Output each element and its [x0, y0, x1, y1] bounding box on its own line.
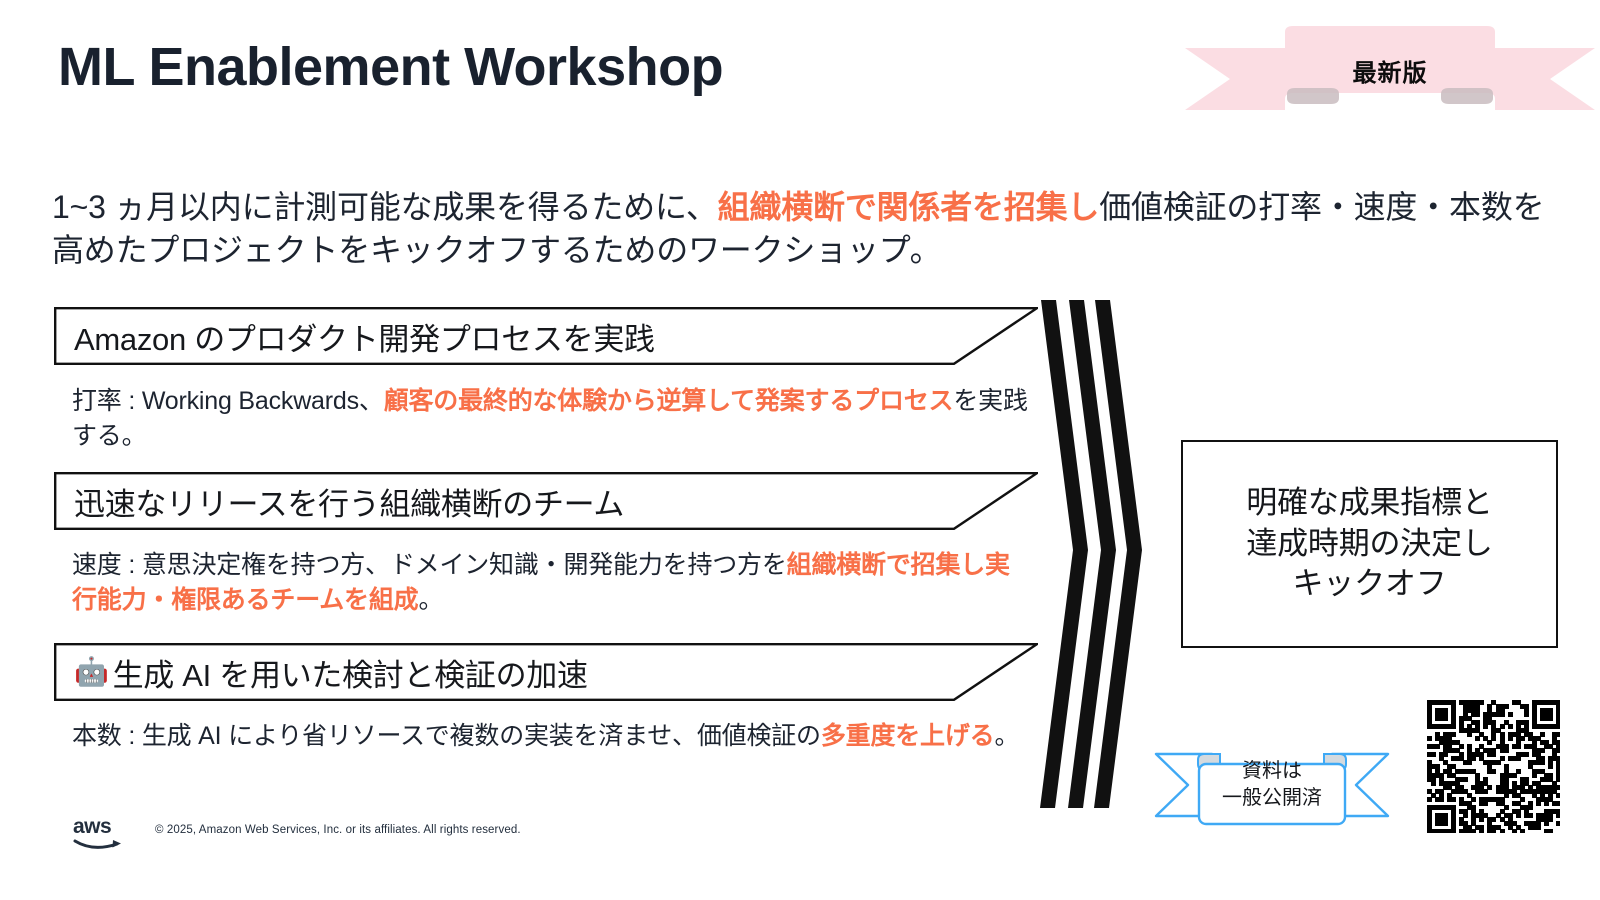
section-headline-label-2: 迅速なリリースを行う組織横断のチーム [74, 479, 624, 524]
ribbon-line-2: 一般公開済 [1174, 785, 1370, 812]
section-body-highlight-3: 多重度を上げる [821, 722, 995, 750]
robot-icon: 🤖 [74, 658, 109, 686]
qr-code-canvas[interactable] [1427, 700, 1560, 833]
section-headline-2: 迅速なリリースを行う組織横断のチーム [74, 472, 624, 530]
section-headline-label-3: 生成 AI を用いた検討と検証の加速 [113, 650, 588, 695]
section-body-part1-2: 速度 : 意思決定権を持つ方、ドメイン知識・開発能力を持つ方を [72, 551, 787, 579]
section-body-part2-3: 。 [994, 722, 1019, 750]
lead-part1: 1~3 ヵ月以内に計測可能な成果を得るために、 [52, 189, 718, 225]
badge-label: 最新版 [1185, 53, 1595, 88]
outcome-line-3: キックオフ [1246, 564, 1492, 605]
svg-text:aws: aws [73, 815, 111, 838]
section-body-part2-2: 。 [418, 586, 443, 614]
qr-code[interactable] [1427, 700, 1560, 833]
section-body-highlight-1: 顧客の最終的な体験から逆算して発案するプロセス [384, 387, 954, 415]
ribbon-label: 資料は 一般公開済 [1174, 758, 1370, 812]
section-headline-box-2: 迅速なリリースを行う組織横断のチーム [54, 472, 1038, 530]
section-headline-box-3: 🤖生成 AI を用いた検討と検証の加速 [54, 643, 1038, 701]
outcome-line-2: 達成時期の決定し [1246, 524, 1492, 565]
section-body-part1-3: 本数 : 生成 AI により省リソースで複数の実装を済ませ、価値検証の [72, 722, 821, 750]
copyright-text: © 2025, Amazon Web Services, Inc. or its… [155, 824, 521, 836]
slide-canvas: ML Enablement Workshop 最新版 1~3 ヵ月以内に計測可能… [0, 0, 1600, 900]
section-headline-box-1: Amazon のプロダクト開発プロセスを実践 [54, 307, 1038, 365]
public-material-ribbon: 資料は 一般公開済 [1152, 740, 1392, 835]
aws-logo: aws [73, 813, 135, 853]
section-body-1: 打率 : Working Backwards、顧客の最終的な体験から逆算して発案… [72, 384, 1032, 454]
outcome-box: 明確な成果指標と 達成時期の決定し キックオフ [1181, 440, 1558, 648]
ribbon-line-1: 資料は [1174, 758, 1370, 785]
section-headline-1: Amazon のプロダクト開発プロセスを実践 [74, 307, 655, 365]
page-title: ML Enablement Workshop [58, 36, 723, 98]
section-headline-label-1: Amazon のプロダクト開発プロセスを実践 [74, 314, 655, 359]
lead-paragraph: 1~3 ヵ月以内に計測可能な成果を得るために、組織横断で関係者を招集し価値検証の… [52, 186, 1562, 271]
latest-version-badge: 最新版 [1185, 26, 1595, 124]
triple-chevron-arrow-icon [1024, 300, 1154, 808]
section-headline-3: 🤖生成 AI を用いた検討と検証の加速 [74, 643, 588, 701]
lead-highlight: 組織横断で関係者を招集し [718, 189, 1100, 225]
section-body-3: 本数 : 生成 AI により省リソースで複数の実装を済ませ、価値検証の多重度を上… [72, 719, 1032, 754]
section-body-part1-1: 打率 : Working Backwards、 [72, 387, 384, 415]
outcome-text: 明確な成果指標と 達成時期の決定し キックオフ [1246, 483, 1492, 606]
section-body-2: 速度 : 意思決定権を持つ方、ドメイン知識・開発能力を持つ方を組織横断で招集し実… [72, 548, 1032, 618]
outcome-line-1: 明確な成果指標と [1246, 483, 1492, 524]
